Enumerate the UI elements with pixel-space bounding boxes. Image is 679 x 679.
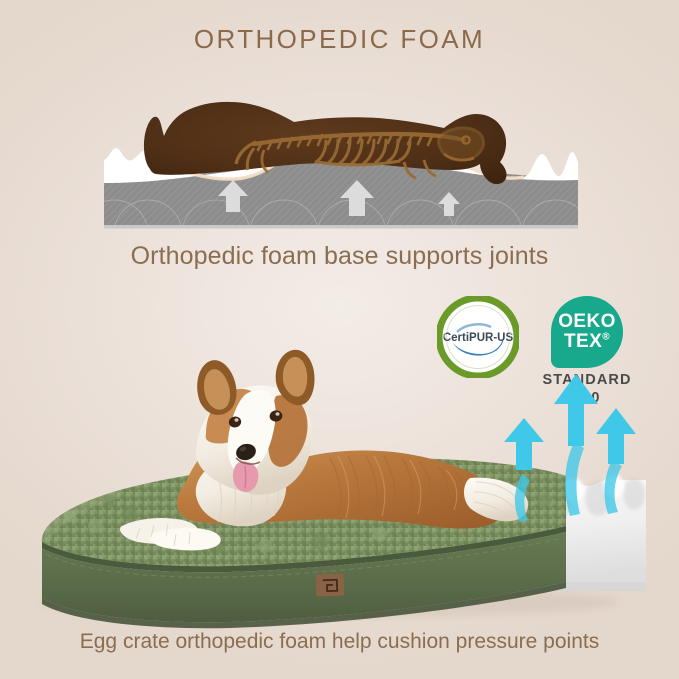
- brand-logo-tag: [316, 574, 345, 597]
- oeko-tex-line1: OEKO: [558, 312, 616, 332]
- infographic-canvas: ORTHOPEDIC FOAM: [0, 0, 679, 679]
- orthopedic-foam-cross-section-diagram: [104, 84, 578, 232]
- caption-orthopedic-support: Orthopedic foam base supports joints: [0, 242, 679, 271]
- page-title: ORTHOPEDIC FOAM: [0, 24, 679, 55]
- product-photo-dog-on-bed: [0, 330, 679, 630]
- caption-egg-crate-foam: Egg crate orthopedic foam help cushion p…: [0, 630, 679, 654]
